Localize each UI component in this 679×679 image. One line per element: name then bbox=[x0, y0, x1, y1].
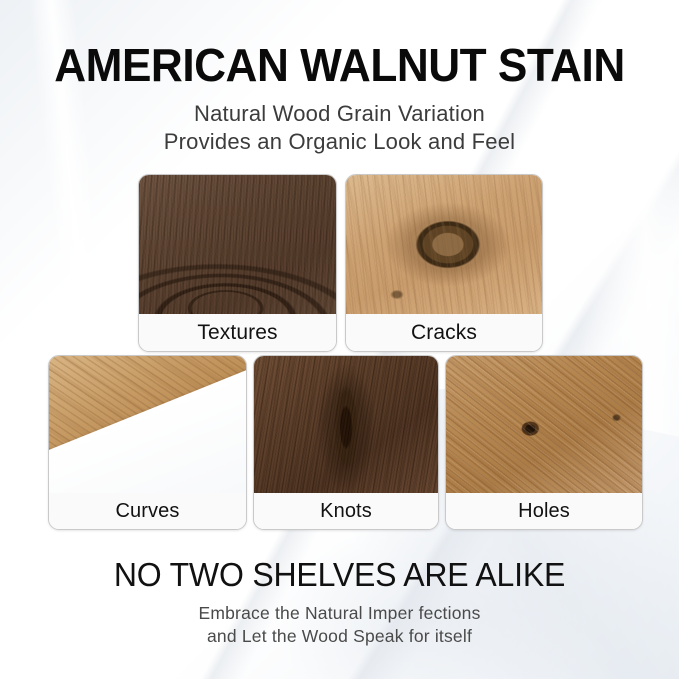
infographic-canvas: AMERICAN WALNUT STAIN Natural Wood Grain… bbox=[0, 0, 679, 679]
wood-photo-cracks bbox=[346, 175, 542, 314]
wood-texture-swatch bbox=[446, 356, 642, 493]
feature-card-label: Knots bbox=[254, 493, 438, 529]
feature-card-textures: Textures bbox=[138, 174, 337, 352]
feature-card-holes: Holes bbox=[445, 355, 643, 530]
footer-subtitle: Embrace the Natural Imper fections and L… bbox=[0, 602, 679, 649]
feature-card-knots: Knots bbox=[253, 355, 439, 530]
wood-texture-swatch bbox=[346, 175, 542, 314]
main-subtitle-line-1: Natural Wood Grain Variation bbox=[0, 100, 679, 128]
wood-photo-textures bbox=[139, 175, 336, 314]
main-title: AMERICAN WALNUT STAIN bbox=[14, 42, 666, 88]
feature-card-label: Cracks bbox=[346, 314, 542, 351]
footer-title: NO TWO SHELVES ARE ALIKE bbox=[10, 558, 669, 591]
feature-card-label: Textures bbox=[139, 314, 336, 351]
feature-card-cracks: Cracks bbox=[345, 174, 543, 352]
wood-photo-holes bbox=[446, 356, 642, 493]
feature-card-curves: Curves bbox=[48, 355, 247, 530]
wood-texture-swatch bbox=[254, 356, 438, 493]
wood-photo-knots bbox=[254, 356, 438, 493]
main-subtitle-line-2: Provides an Organic Look and Feel bbox=[0, 128, 679, 156]
background-glow bbox=[272, 520, 592, 679]
wood-texture-swatch bbox=[139, 175, 336, 314]
wood-photo-curves bbox=[49, 356, 246, 493]
footer-subtitle-line-2: and Let the Wood Speak for itself bbox=[0, 625, 679, 648]
feature-card-label: Holes bbox=[446, 493, 642, 529]
main-subtitle: Natural Wood Grain Variation Provides an… bbox=[0, 100, 679, 156]
feature-card-label: Curves bbox=[49, 493, 246, 529]
footer-subtitle-line-1: Embrace the Natural Imper fections bbox=[0, 602, 679, 625]
wood-texture-swatch bbox=[49, 356, 246, 493]
